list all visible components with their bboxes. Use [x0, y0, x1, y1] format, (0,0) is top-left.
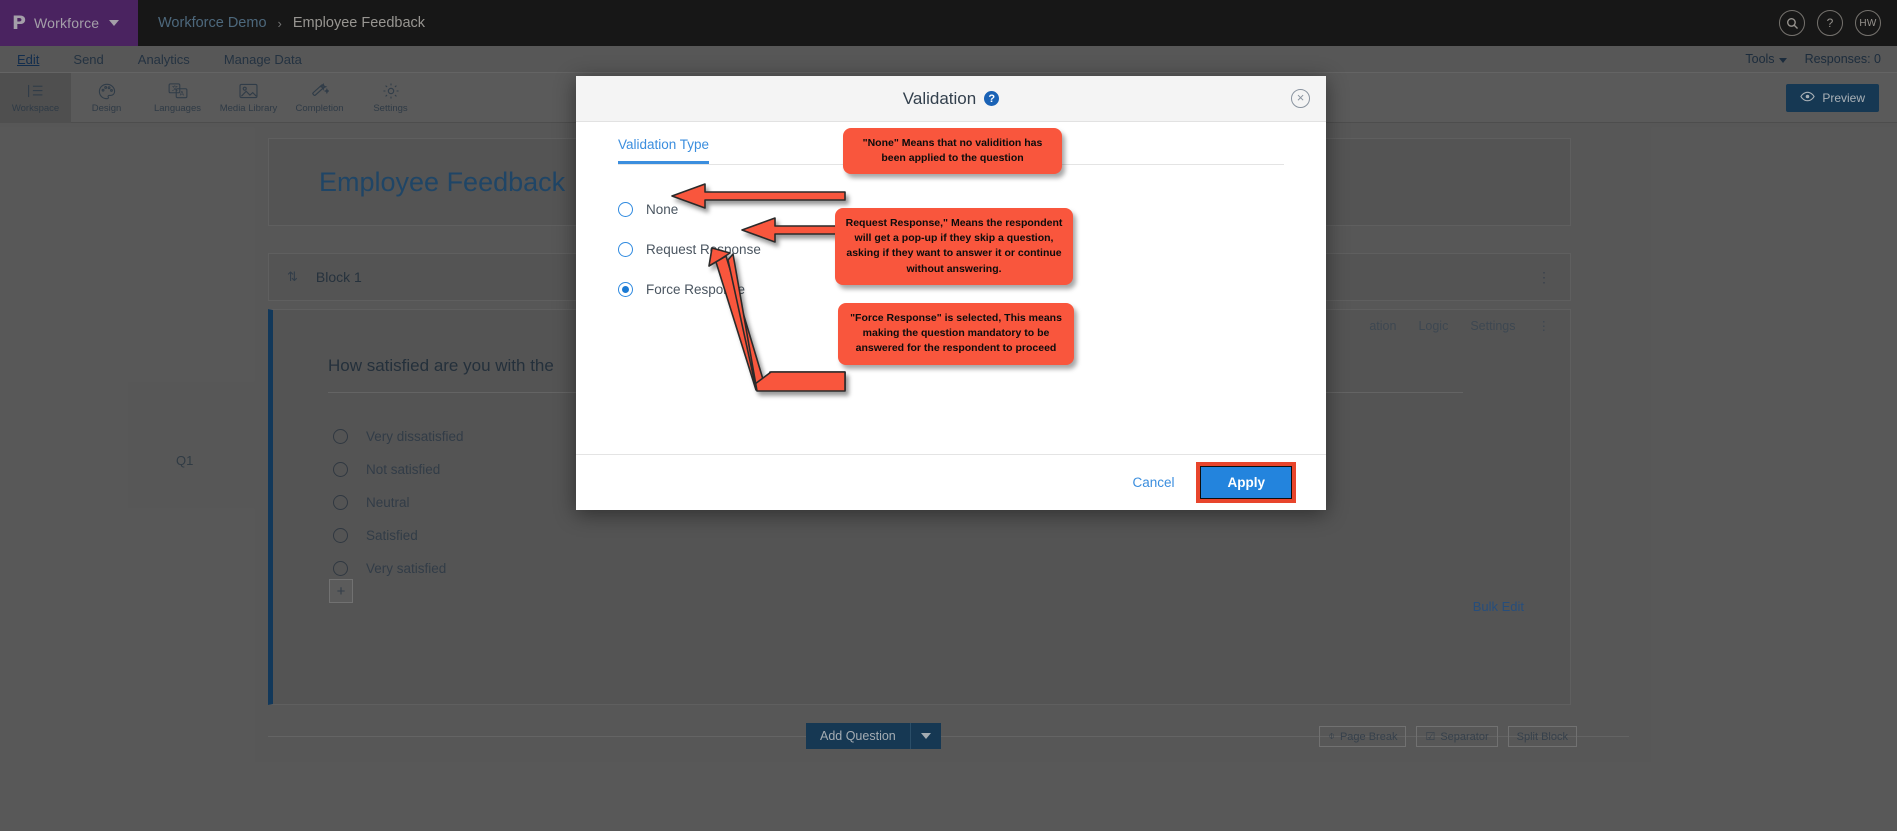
modal-header: Validation ? ×: [576, 76, 1326, 122]
radio-icon[interactable]: [618, 202, 633, 217]
help-icon[interactable]: ?: [984, 91, 999, 106]
apply-button-highlight: Apply: [1196, 462, 1296, 503]
apply-button[interactable]: Apply: [1200, 466, 1292, 499]
radio-icon[interactable]: [618, 242, 633, 257]
close-icon[interactable]: ×: [1291, 89, 1310, 108]
radio-icon-selected[interactable]: [618, 282, 633, 297]
option-label: Request Response: [646, 242, 761, 257]
option-label: Force Response: [646, 282, 745, 297]
annotation-none: "None" Means that no validition has been…: [843, 128, 1062, 174]
annotation-force-response: "Force Response" is selected, This means…: [838, 303, 1074, 365]
annotation-request-response: Request Response," Means the respondent …: [835, 208, 1073, 285]
option-label: None: [646, 202, 678, 217]
cancel-button[interactable]: Cancel: [1132, 475, 1174, 490]
application-window: P Workforce Workforce Demo › Employee Fe…: [0, 0, 1897, 831]
modal-footer: Cancel Apply: [576, 454, 1326, 510]
tab-validation-type[interactable]: Validation Type: [618, 137, 709, 164]
modal-title: Validation: [903, 89, 976, 109]
